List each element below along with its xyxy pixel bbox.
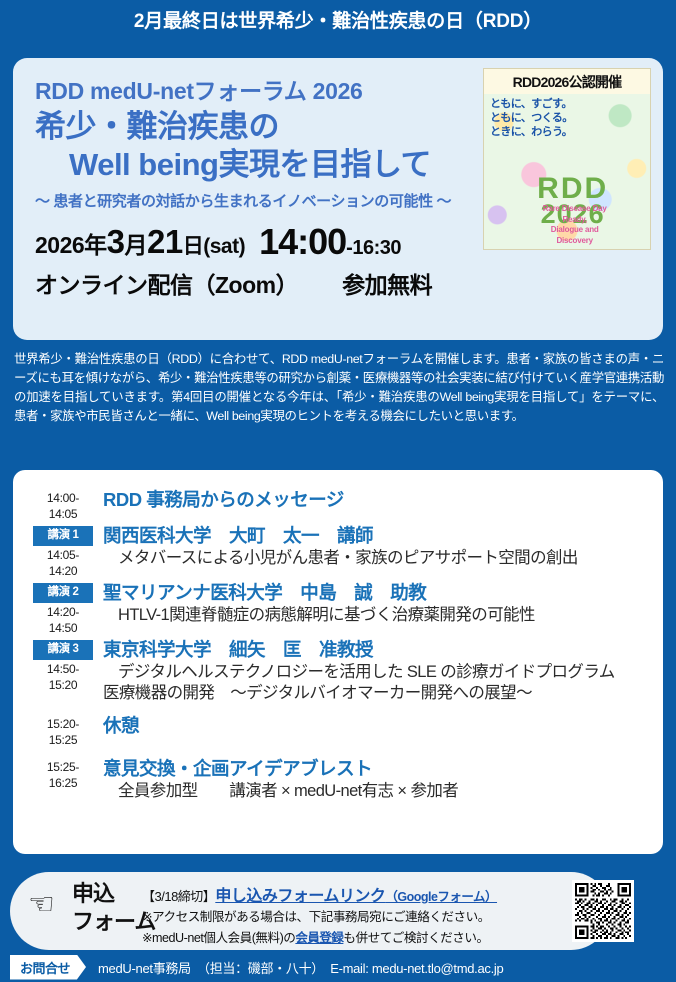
application-form-link-suffix[interactable]: （Googleフォーム） <box>385 890 497 904</box>
application-form-label-line1: 申込 <box>72 881 114 906</box>
application-form-link[interactable]: 申し込みフォームリンク <box>215 888 385 905</box>
application-form-panel: ☜ 申込 フォーム 【3/18締切】申し込みフォームリンク（Googleフォーム… <box>10 872 610 950</box>
program-subtitle-2: 医療機器の開発 〜デジタルバイオマーカー開発への展望〜 <box>103 683 649 704</box>
header-banner-text: 2月最終日は世界希少・難治性疾患の日（RDD） <box>134 6 542 33</box>
qr-code-svg <box>575 883 631 939</box>
program-body: 関西医科大学 大町 太一 講師 メタバースによる小児がん患者・家族のピアサポート… <box>99 524 649 569</box>
session-badge: 講演 1 <box>33 526 93 546</box>
program-row: 14:00- 14:05 RDD 事務局からのメッセージ <box>27 488 649 522</box>
program-time-end: 15:20 <box>27 677 99 693</box>
application-note-1: ※アクセス制限がある場合は、下記事務局宛にご連絡ください。 <box>142 909 572 927</box>
program-time-start: 15:20- <box>47 717 79 731</box>
date-day: 21 <box>147 223 183 260</box>
program-time-end: 14:50 <box>27 620 99 636</box>
event-description: 世界希少・難治性疾患の日（RDD）に合わせて、RDD medU-netフォーラム… <box>14 350 664 425</box>
application-link-row: 【3/18締切】申し込みフォームリンク（Googleフォーム） <box>142 882 572 906</box>
application-note-2-prefix: ※medU-net個人会員(無料)の <box>142 931 295 945</box>
date-month-unit: 月 <box>125 232 148 258</box>
program-time: 15:25- 16:25 <box>27 757 99 791</box>
program-subtitle: 全員参加型 講演者 × medU-net有志 × 参加者 <box>103 781 649 802</box>
time-start: 14:00 <box>259 221 346 262</box>
program-row: 講演 1 14:05- 14:20 関西医科大学 大町 太一 講師 メタバースに… <box>27 524 649 579</box>
program-time: 講演 1 14:05- 14:20 <box>27 524 99 579</box>
session-badge: 講演 2 <box>33 583 93 603</box>
program-time-end: 14:05 <box>27 506 99 522</box>
program-time-start: 14:05- <box>47 548 79 562</box>
program-time-start: 14:00- <box>47 491 79 505</box>
date-day-unit: 日(sat) <box>183 235 245 258</box>
program-time-end: 15:25 <box>27 732 99 748</box>
application-note-2: ※medU-net個人会員(無料)の会員登録も併せてご検討ください。 <box>142 930 572 948</box>
event-time: 14:00-16:30 <box>259 225 401 260</box>
rdd2026-logo: RDD2026公認開催 ともに、すごす。ともに、つくる。ときに、わらう。 RDD… <box>483 68 651 250</box>
program-row: 講演 2 14:20- 14:50 聖マリアンナ医科大学 中島 誠 助教 HTL… <box>27 581 649 636</box>
pointing-hand-icon: ☜ <box>28 890 55 920</box>
contact-details: medU-net事務局 （担当：磯部・八十） E-mail: medu-net.… <box>98 958 503 977</box>
event-title-line1: 希少・難治疾患の <box>35 108 497 146</box>
qr-code-icon[interactable] <box>572 880 634 942</box>
program-row: 15:25- 16:25 意見交換・企画アイデアブレスト 全員参加型 講演者 ×… <box>27 757 649 802</box>
event-fee: 参加無料 <box>342 266 432 300</box>
program-title: 関西医科大学 大町 太一 講師 <box>103 524 649 548</box>
program-row: 講演 3 14:50- 15:20 東京科学大学 細矢 匡 准教授 デジタルヘル… <box>27 638 649 705</box>
event-date: 2026年3月21日(sat) <box>35 226 245 260</box>
program-time: 講演 3 14:50- 15:20 <box>27 638 99 693</box>
date-year: 2026年 <box>35 232 107 258</box>
program-time-start: 14:50- <box>47 662 79 676</box>
program-title: 意見交換・企画アイデアブレスト <box>103 757 649 781</box>
hero-text-block: RDD medU-netフォーラム 2026 希少・難治疾患の Well bei… <box>35 72 497 300</box>
event-title-line2: Well being実現を目指して <box>35 146 497 184</box>
time-end: -16:30 <box>346 237 401 259</box>
page-header-banner: 2月最終日は世界希少・難治性疾患の日（RDD） <box>0 0 676 38</box>
program-body: RDD 事務局からのメッセージ <box>99 488 649 512</box>
date-month: 3 <box>107 223 125 260</box>
program-body: 意見交換・企画アイデアブレスト 全員参加型 講演者 × medU-net有志 ×… <box>99 757 649 802</box>
logo-artwork: ともに、すごす。ともに、つくる。ときに、わらう。 RDD 2026 Rare D… <box>484 94 650 249</box>
program-title: RDD 事務局からのメッセージ <box>103 488 649 512</box>
program-subtitle: HTLV-1関連脊髄症の病態解明に基づく治療薬開発の可能性 <box>103 605 649 626</box>
program-card: 14:00- 14:05 RDD 事務局からのメッセージ 講演 1 14:05-… <box>13 470 663 854</box>
contact-badge: お問合せ <box>10 955 86 980</box>
logo-tagline: Rare Disease DayReady,Dialogue andDiscov… <box>543 204 607 246</box>
program-time: 講演 2 14:20- 14:50 <box>27 581 99 636</box>
program-title: 休憩 <box>103 714 649 738</box>
program-time-start: 15:25- <box>47 760 79 774</box>
event-kicker: RDD medU-netフォーラム 2026 <box>35 72 497 106</box>
application-note-2-suffix: も併せてご検討ください。 <box>343 931 488 945</box>
logo-slogan: ともに、すごす。ともに、つくる。ときに、わらう。 <box>490 98 573 139</box>
event-venue: オンライン配信（Zoom） <box>35 266 298 300</box>
program-row: 15:20- 15:25 休憩 <box>27 714 649 748</box>
program-time: 14:00- 14:05 <box>27 488 99 522</box>
program-time: 15:20- 15:25 <box>27 714 99 748</box>
program-time-end: 16:25 <box>27 775 99 791</box>
event-venue-row: オンライン配信（Zoom） 参加無料 <box>35 266 497 300</box>
program-subtitle: デジタルヘルステクノロジーを活用した SLE の診療ガイドプログラム <box>103 662 649 683</box>
program-body: 休憩 <box>99 714 649 738</box>
application-form-body: 【3/18締切】申し込みフォームリンク（Googleフォーム） ※アクセス制限が… <box>142 882 572 947</box>
event-subtitle: 〜 患者と研究者の対話から生まれるイノベーションの可能性 〜 <box>35 190 497 211</box>
program-body: 聖マリアンナ医科大学 中島 誠 助教 HTLV-1関連脊髄症の病態解明に基づく治… <box>99 581 649 626</box>
footer-contact-bar: お問合せ medU-net事務局 （担当：磯部・八十） E-mail: medu… <box>0 952 676 982</box>
program-time-start: 14:20- <box>47 605 79 619</box>
membership-registration-link[interactable]: 会員登録 <box>295 931 343 945</box>
program-title: 聖マリアンナ医科大学 中島 誠 助教 <box>103 581 649 605</box>
logo-caption: RDD2026公認開催 <box>484 69 650 94</box>
program-subtitle: メタバースによる小児がん患者・家族のピアサポート空間の創出 <box>103 548 649 569</box>
event-datetime-row: 2026年3月21日(sat) 14:00-16:30 <box>35 225 497 260</box>
session-badge: 講演 3 <box>33 640 93 660</box>
program-time-end: 14:20 <box>27 563 99 579</box>
program-title: 東京科学大学 細矢 匡 准教授 <box>103 638 649 662</box>
hero-card: RDD medU-netフォーラム 2026 希少・難治疾患の Well bei… <box>13 58 663 340</box>
application-deadline: 【3/18締切】 <box>142 889 215 904</box>
program-body: 東京科学大学 細矢 匡 准教授 デジタルヘルステクノロジーを活用した SLE の… <box>99 638 649 705</box>
